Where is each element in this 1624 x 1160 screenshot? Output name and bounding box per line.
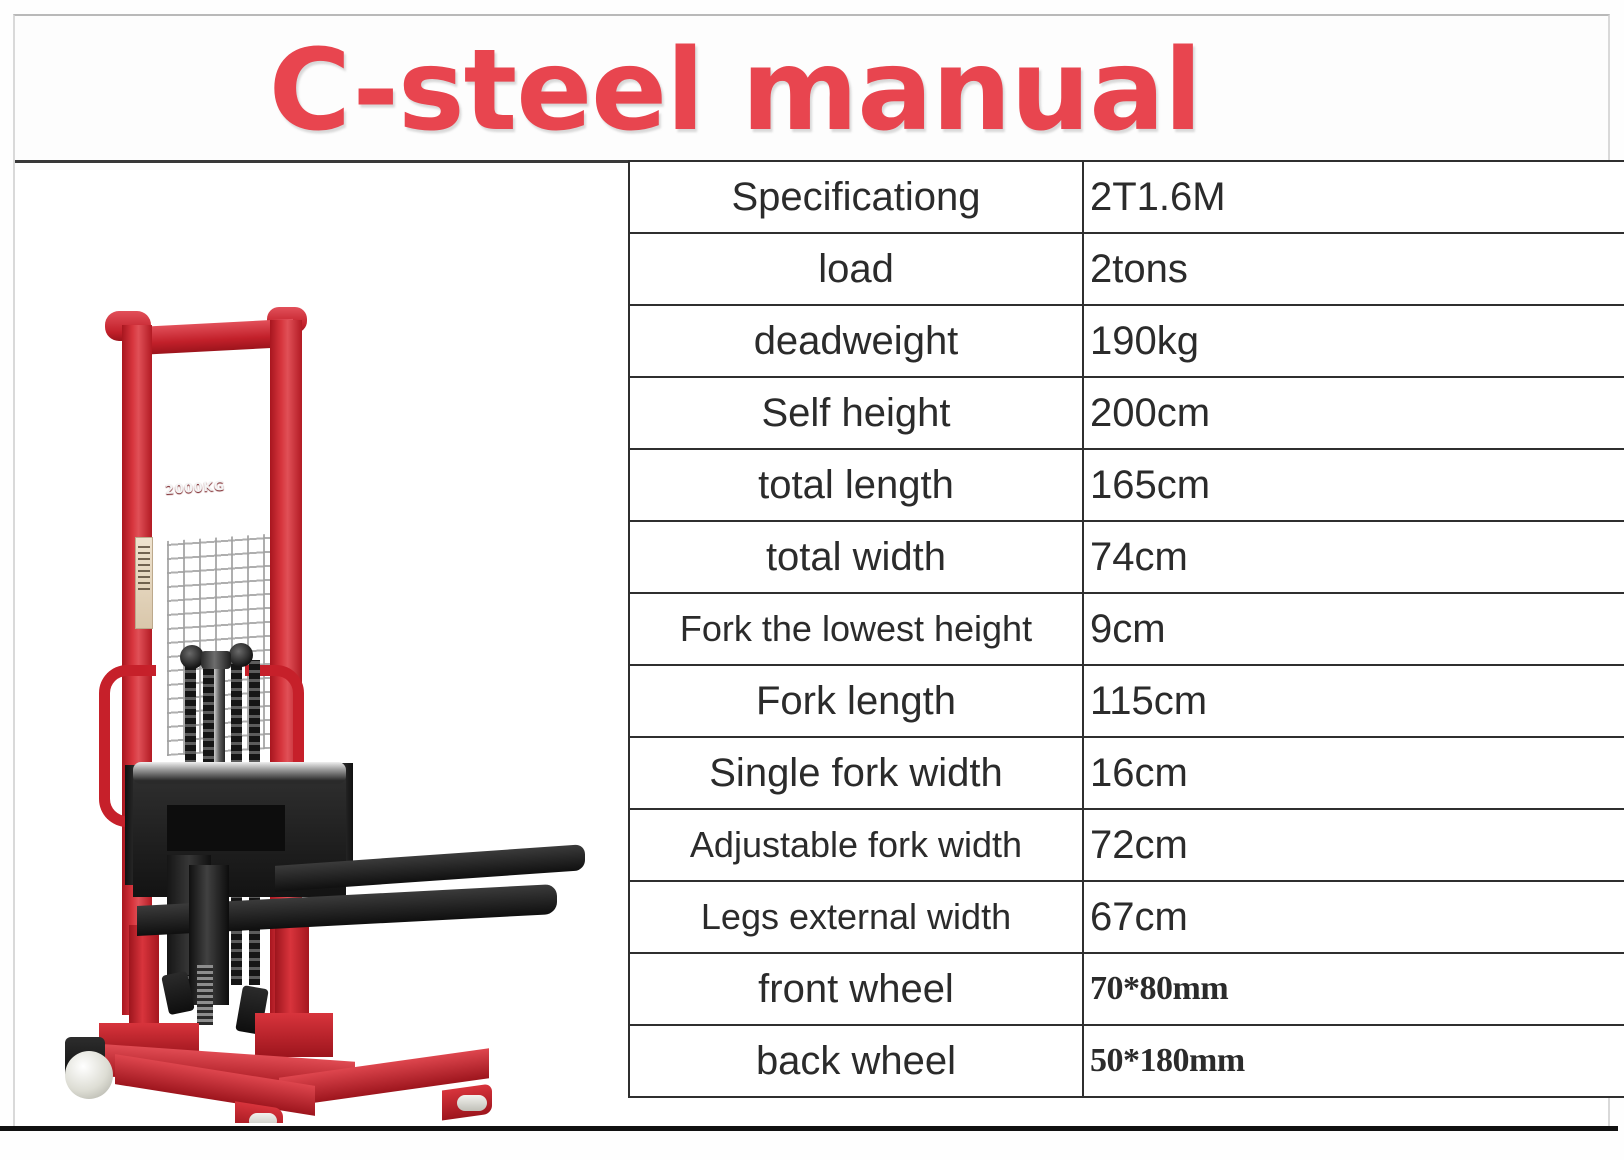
product-photo: 2000KG: [17, 165, 602, 1123]
spec-value: 115cm: [1083, 665, 1624, 737]
cylinder-head: [201, 651, 231, 669]
carriage-opening: [167, 805, 285, 851]
frame-bottom-edge: [0, 1126, 1618, 1131]
spec-label: total length: [629, 449, 1083, 521]
spec-value: 9cm: [1083, 593, 1624, 665]
spec-label: Legs external width: [629, 881, 1083, 953]
spec-label: Specificationg: [629, 161, 1083, 233]
spec-value: 190kg: [1083, 305, 1624, 377]
spec-value: 165cm: [1083, 449, 1624, 521]
table-row: Single fork width 16cm: [629, 737, 1624, 809]
spec-label: total width: [629, 521, 1083, 593]
carriage-roller-bar: [133, 762, 346, 784]
page-title: C-steel manual: [15, 26, 1455, 156]
chain-sprocket-right: [229, 643, 253, 667]
base-riser-right: [255, 1013, 333, 1057]
spec-label: Single fork width: [629, 737, 1083, 809]
spec-label: Adjustable fork width: [629, 809, 1083, 881]
table-row: Fork length 115cm: [629, 665, 1624, 737]
spec-value: 200cm: [1083, 377, 1624, 449]
spec-label: load: [629, 233, 1083, 305]
spec-label: deadweight: [629, 305, 1083, 377]
table-row: back wheel 50*180mm: [629, 1025, 1624, 1097]
table-row: deadweight 190kg: [629, 305, 1624, 377]
spec-value: 67cm: [1083, 881, 1624, 953]
spec-value: 50*180mm: [1083, 1025, 1624, 1097]
table-row: Fork the lowest height 9cm: [629, 593, 1624, 665]
forklift-illustration: 2000KG: [17, 165, 602, 1123]
specification-table: Specificationg 2T1.6M load 2tons deadwei…: [628, 160, 1624, 1098]
load-roller-left: [249, 1113, 277, 1123]
spec-value: 16cm: [1083, 737, 1624, 809]
table-row: Legs external width 67cm: [629, 881, 1624, 953]
capacity-marking: 2000KG: [165, 479, 226, 498]
table-row: Adjustable fork width 72cm: [629, 809, 1624, 881]
spec-value: 2tons: [1083, 233, 1624, 305]
spec-value: 2T1.6M: [1083, 161, 1624, 233]
specification-table-body: Specificationg 2T1.6M load 2tons deadwei…: [629, 161, 1624, 1097]
warning-sticker-icon: [135, 537, 153, 629]
warning-sticker-lines: [136, 542, 152, 632]
spec-value: 72cm: [1083, 809, 1624, 881]
load-roller-right: [457, 1095, 487, 1111]
spec-label: Self height: [629, 377, 1083, 449]
title-band: C-steel manual: [15, 16, 1608, 161]
table-row: Self height 200cm: [629, 377, 1624, 449]
spec-label: Fork length: [629, 665, 1083, 737]
spec-label: front wheel: [629, 953, 1083, 1025]
table-row: total width 74cm: [629, 521, 1624, 593]
spec-label: back wheel: [629, 1025, 1083, 1097]
spec-value: 74cm: [1083, 521, 1624, 593]
spec-label: Fork the lowest height: [629, 593, 1083, 665]
pump-spring: [197, 965, 213, 1025]
table-row: Specificationg 2T1.6M: [629, 161, 1624, 233]
steer-wheel: [65, 1051, 113, 1099]
table-row: total length 165cm: [629, 449, 1624, 521]
table-row: load 2tons: [629, 233, 1624, 305]
table-row: front wheel 70*80mm: [629, 953, 1624, 1025]
product-spec-banner: C-steel manual 2000KG: [0, 0, 1624, 1160]
spec-value: 70*80mm: [1083, 953, 1624, 1025]
